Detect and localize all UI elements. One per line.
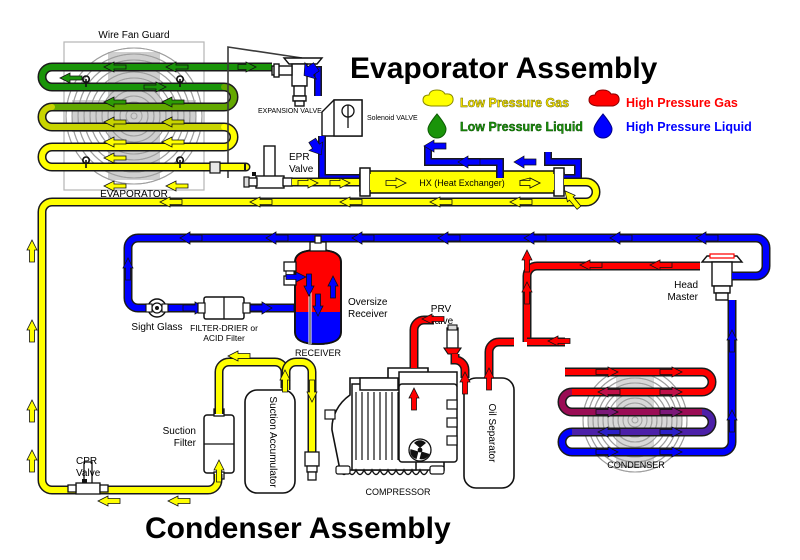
oversize-receiver-label-1: Oversize (348, 297, 388, 308)
heat-exchanger-label: HX (Heat Exchanger) (419, 178, 505, 188)
sight-glass-label: Sight Glass (131, 322, 182, 333)
compressor-label: COMPRESSOR (365, 487, 431, 497)
filter-drier-label-1: FILTER-DRIER or (190, 323, 258, 333)
suction-filter-label-1: Suction (163, 426, 196, 437)
page-title-top: Evaporator Assembly (350, 52, 658, 85)
oversize-receiver-label-2: Receiver (348, 309, 388, 320)
cpr-valve-label-1: CPR (76, 456, 97, 467)
epr-valve-label-1: EPR (289, 152, 310, 163)
expansion-valve-label: EXPANSION VALVE (258, 108, 322, 115)
legend-label-2: High Pressure Gas (626, 96, 738, 110)
solenoid-valve-label: Solenoid VALVE (367, 115, 418, 122)
cpr-valve-label-2: Valve (76, 468, 101, 479)
prv-valve-body (444, 325, 461, 354)
legend-label-3: High Pressure Liquid (626, 120, 752, 134)
refrigeration-system-diagram: Wire Fan Guard EVAPORATOR EXPANSION VALV… (0, 0, 800, 560)
suction-accumulator-label: Suction Accumulator (267, 396, 278, 488)
suction-filter-label-2: Filter (174, 438, 197, 449)
condenser-label: CONDENSER (607, 460, 665, 470)
solenoid-valve-body (322, 100, 362, 136)
diagram-canvas: Wire Fan Guard EVAPORATOR EXPANSION VALV… (0, 0, 800, 560)
legend-label-1: Low Pressure Liquid (460, 120, 583, 134)
prv-valve-label-1: PRV (431, 304, 452, 315)
page-title-bottom: Condenser Assembly (145, 512, 451, 545)
head-master-label-2: Master (667, 292, 698, 303)
filter-drier-label-2: ACID Filter (203, 333, 245, 343)
wire-fan-guard-label: Wire Fan Guard (98, 30, 169, 41)
legend-label-0: Low Pressure Gas (460, 96, 569, 110)
epr-valve-label-2: Valve (289, 164, 314, 175)
head-master-label-1: Head (674, 280, 698, 291)
oil-separator-label: Oil Separator (486, 404, 497, 464)
receiver-label: RECEIVER (295, 348, 342, 358)
liquid-line-to-expansion-valve (238, 62, 272, 72)
filter-drier-body (198, 297, 250, 319)
